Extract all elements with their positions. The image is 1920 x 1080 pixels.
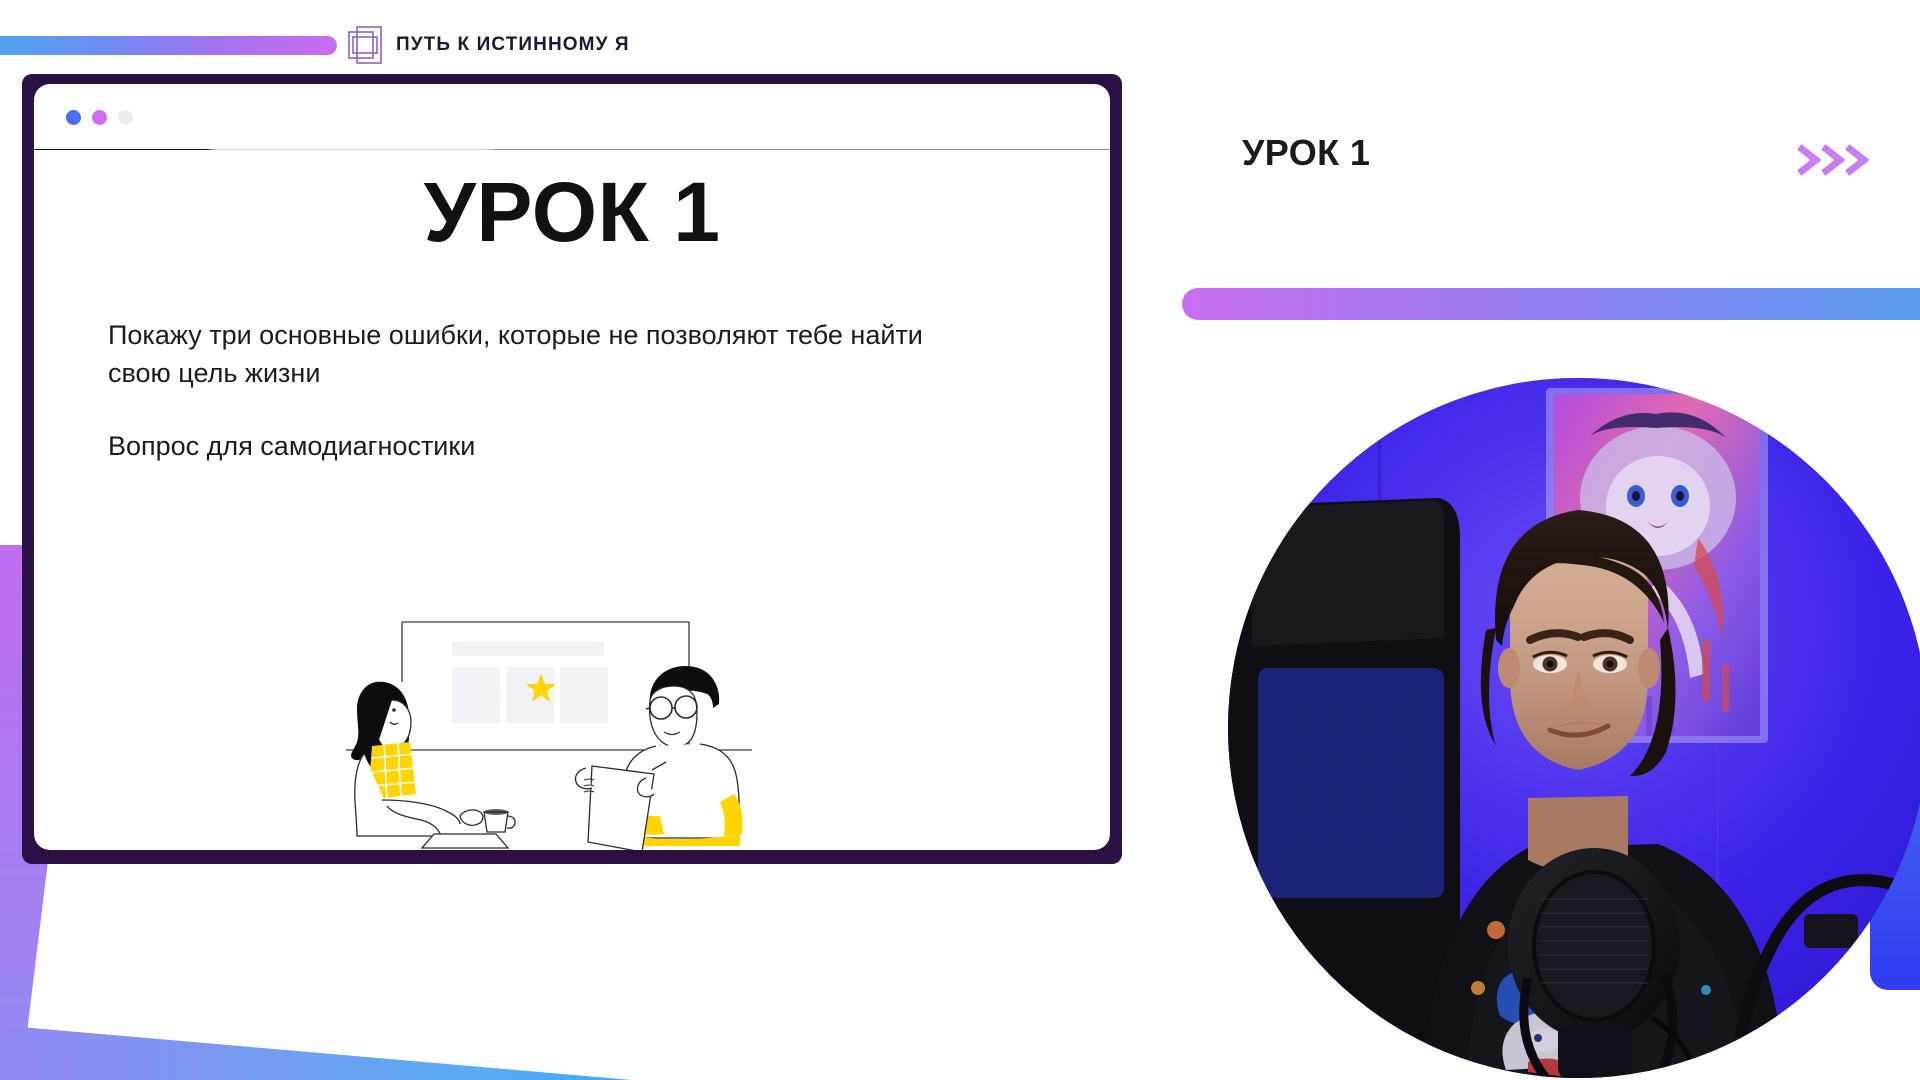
- slide-body-line-1: Покажу три основные ошибки, которые не п…: [108, 316, 928, 393]
- lesson-label: УРОК 1: [1242, 132, 1370, 174]
- brand: ПУТЬ К ИСТИННОМУ Я: [348, 26, 630, 64]
- triple-chevron-right-icon: [1796, 140, 1880, 180]
- slide-title: УРОК 1: [34, 164, 1110, 261]
- slide-canvas: ПУТЬ К ИСТИННОМУ Я УРОК 1 Покажу три осн…: [0, 0, 1920, 1080]
- slide-body-line-2: Вопрос для самодиагностики: [108, 427, 928, 465]
- slide-body: Покажу три основные ошибки, которые не п…: [108, 316, 928, 465]
- brand-title: ПУТЬ К ИСТИННОМУ Я: [396, 34, 630, 56]
- layered-squares-icon: [348, 26, 382, 64]
- two-people-meeting-illustration: [334, 604, 764, 850]
- slide-frame: УРОК 1 Покажу три основные ошибки, котор…: [22, 74, 1122, 864]
- window-dot-violet[interactable]: [92, 110, 107, 125]
- decor-bottom-blue-stripe: [0, 1010, 700, 1080]
- slide-card: УРОК 1 Покажу три основные ошибки, котор…: [34, 84, 1110, 850]
- window-controls[interactable]: [66, 110, 133, 125]
- header-gradient-bar: [0, 36, 337, 55]
- window-separator: [34, 149, 1110, 150]
- right-gradient-bar: [1182, 288, 1920, 320]
- presenter-webcam: [1228, 378, 1920, 1078]
- window-dot-grey[interactable]: [118, 110, 133, 125]
- window-dot-blue[interactable]: [66, 110, 81, 125]
